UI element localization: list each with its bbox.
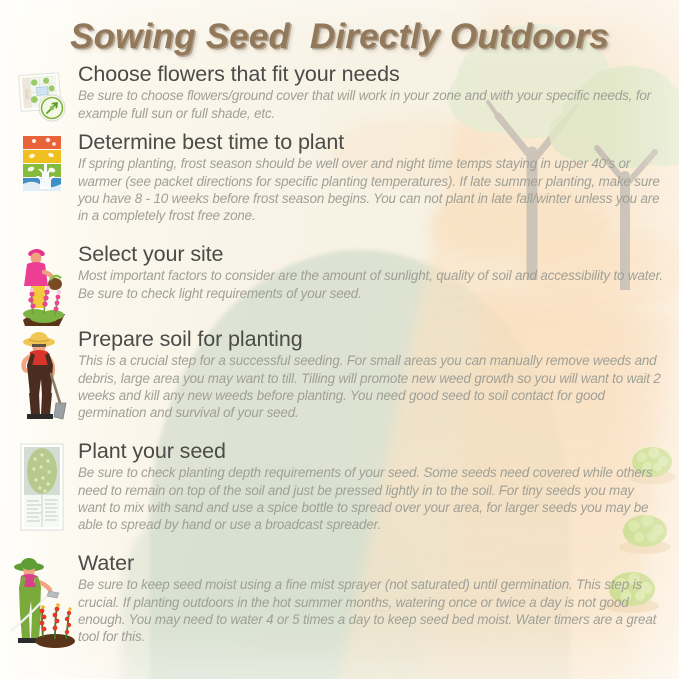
step-item-prepare-soil: Prepare soil for planting This is a cruc… bbox=[0, 327, 679, 439]
step-description: This is a crucial step for a successful … bbox=[78, 352, 665, 422]
infographic-poster: Sowing Seed Directly Outdoors bbox=[0, 0, 679, 679]
step-description: Be sure to keep seed moist using a fine … bbox=[78, 576, 665, 646]
step-text: Prepare soil for planting This is a cruc… bbox=[78, 327, 671, 422]
step-icon-slot bbox=[6, 130, 78, 196]
step-heading: Determine best time to plant bbox=[78, 130, 665, 154]
step-heading: Select your site bbox=[78, 242, 665, 266]
step-description: Be sure to choose flowers/ground cover t… bbox=[78, 87, 665, 122]
step-icon-slot bbox=[6, 327, 78, 425]
step-text: Plant your seed Be sure to check plantin… bbox=[78, 439, 671, 534]
step-text: Choose flowers that fit your needs Be su… bbox=[78, 62, 671, 122]
step-description: If spring planting, frost season should … bbox=[78, 155, 665, 225]
step-text: Determine best time to plant If spring p… bbox=[78, 130, 671, 225]
page-title: Sowing Seed Directly Outdoors bbox=[0, 17, 679, 57]
seed-packet-icon bbox=[15, 441, 69, 533]
step-item-choose-flowers: Choose flowers that fit your needs Be su… bbox=[0, 62, 679, 130]
step-description: Most important factors to consider are t… bbox=[78, 267, 665, 302]
gardener-planting-flowerbed-icon bbox=[13, 242, 71, 330]
steps-list: Choose flowers that fit your needs Be su… bbox=[0, 62, 679, 661]
step-item-plant-seed: Plant your seed Be sure to check plantin… bbox=[0, 439, 679, 551]
step-icon-slot bbox=[6, 551, 78, 651]
step-item-water: Water Be sure to keep seed moist using a… bbox=[0, 551, 679, 661]
step-heading: Plant your seed bbox=[78, 439, 665, 463]
four-seasons-icon bbox=[17, 134, 67, 196]
step-text: Select your site Most important factors … bbox=[78, 242, 671, 302]
step-icon-slot bbox=[6, 439, 78, 533]
gardener-with-shovel-icon bbox=[13, 329, 71, 425]
step-icon-slot bbox=[6, 242, 78, 330]
step-item-determine-time: Determine best time to plant If spring p… bbox=[0, 130, 679, 242]
step-item-select-site: Select your site Most important factors … bbox=[0, 242, 679, 327]
step-heading: Choose flowers that fit your needs bbox=[78, 62, 665, 86]
step-heading: Prepare soil for planting bbox=[78, 327, 665, 351]
step-description: Be sure to check planting depth requirem… bbox=[78, 464, 665, 534]
step-icon-slot bbox=[6, 62, 78, 124]
step-heading: Water bbox=[78, 551, 665, 575]
gardener-watering-icon bbox=[7, 555, 77, 651]
garden-plan-compass-icon bbox=[14, 68, 70, 124]
step-text: Water Be sure to keep seed moist using a… bbox=[78, 551, 671, 646]
